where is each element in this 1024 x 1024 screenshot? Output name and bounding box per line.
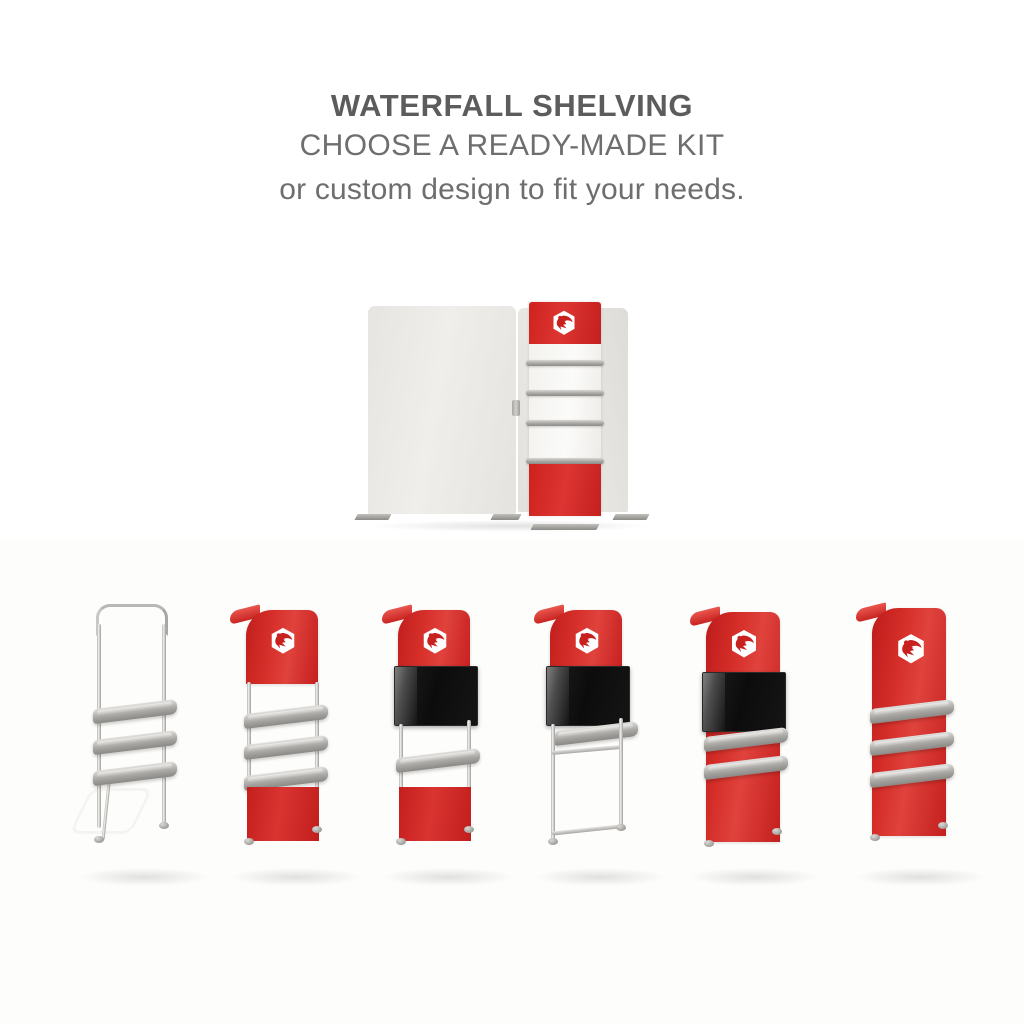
product-showcase-page: WATERFALL SHELVING CHOOSE A READY-MADE K… xyxy=(0,0,1024,1024)
floor-shadow xyxy=(384,868,512,886)
arch-top-bar xyxy=(96,604,168,636)
bird-hexagon-logo xyxy=(268,626,298,656)
foot-cap-left xyxy=(870,834,880,841)
monitor-screen xyxy=(394,666,478,726)
floor-shadow xyxy=(536,868,664,886)
subtitle-line-2: or custom design to fit your needs. xyxy=(0,168,1024,212)
variant-row xyxy=(0,588,1024,888)
hero-shelving-tower xyxy=(529,302,601,516)
bird-hexagon-logo xyxy=(894,632,928,666)
variant-4-banner-monitor-one-shelf-open-frame[interactable] xyxy=(522,588,692,888)
foot-cap-left xyxy=(244,838,254,845)
floor-shadow xyxy=(690,868,818,886)
variant-6-full-red-panel-three-shelf[interactable] xyxy=(842,588,1012,888)
lower-red-graphic xyxy=(399,787,471,841)
floor-shadow xyxy=(80,868,208,886)
foot-cap-right xyxy=(159,822,169,829)
bird-hexagon-logo xyxy=(572,626,602,656)
foot-cap-left xyxy=(704,840,714,847)
foot-cap-right xyxy=(312,826,322,833)
variant-2-banner-three-shelf-red-base[interactable] xyxy=(218,588,388,888)
hero-red-base-graphic xyxy=(529,464,601,516)
foot-cap-left xyxy=(94,836,104,843)
bird-hexagon-logo xyxy=(549,309,579,337)
post-left xyxy=(97,624,101,828)
hero-shelf-3 xyxy=(526,420,604,426)
variant-5-full-red-panel-monitor-two-shelf[interactable] xyxy=(676,588,846,888)
wall-hinge-clamp xyxy=(512,400,520,416)
hero-shelf-2 xyxy=(526,390,604,396)
foot-cap-left xyxy=(396,838,406,845)
bird-hexagon-logo xyxy=(728,628,760,660)
post-right xyxy=(619,718,623,828)
subtitle-line-1: CHOOSE A READY-MADE KIT xyxy=(0,124,1024,168)
monitor-screen xyxy=(702,672,786,732)
banner-graphic xyxy=(246,610,318,684)
screen-glare xyxy=(703,673,725,731)
hero-red-header-graphic xyxy=(529,302,601,344)
screen-glare xyxy=(547,667,569,725)
hero-feet-group xyxy=(352,514,668,528)
lower-red-graphic xyxy=(247,787,319,841)
foot-cap-right xyxy=(938,822,948,829)
hero-display-image xyxy=(352,296,668,536)
left-fabric-wall xyxy=(368,306,516,514)
crossbar-lower xyxy=(552,824,620,835)
crossbar-upper xyxy=(552,745,620,755)
monitor-screen xyxy=(546,666,630,726)
floor-shadow xyxy=(232,868,360,886)
page-title: WATERFALL SHELVING xyxy=(0,88,1024,124)
floor-shadow xyxy=(856,868,984,886)
screen-glare xyxy=(395,667,417,725)
heading-block: WATERFALL SHELVING CHOOSE A READY-MADE K… xyxy=(0,88,1024,212)
foot-cap-right xyxy=(464,826,474,833)
variant-1-frame-only-three-shelf[interactable] xyxy=(66,588,236,888)
ghost-base-outline xyxy=(69,788,153,834)
foot-tower xyxy=(530,524,599,530)
foot-cap-right xyxy=(772,828,782,835)
foot-right xyxy=(612,514,649,520)
foot-left xyxy=(354,514,391,520)
bird-hexagon-logo xyxy=(420,626,450,656)
post-left xyxy=(551,724,555,840)
hero-shelf-1 xyxy=(526,360,604,366)
post-right xyxy=(162,624,166,824)
variant-3-banner-monitor-one-shelf-red-base[interactable] xyxy=(370,588,540,888)
foot-center xyxy=(490,514,521,520)
foot-cap-right xyxy=(616,824,626,831)
foot-cap-left xyxy=(548,838,558,845)
